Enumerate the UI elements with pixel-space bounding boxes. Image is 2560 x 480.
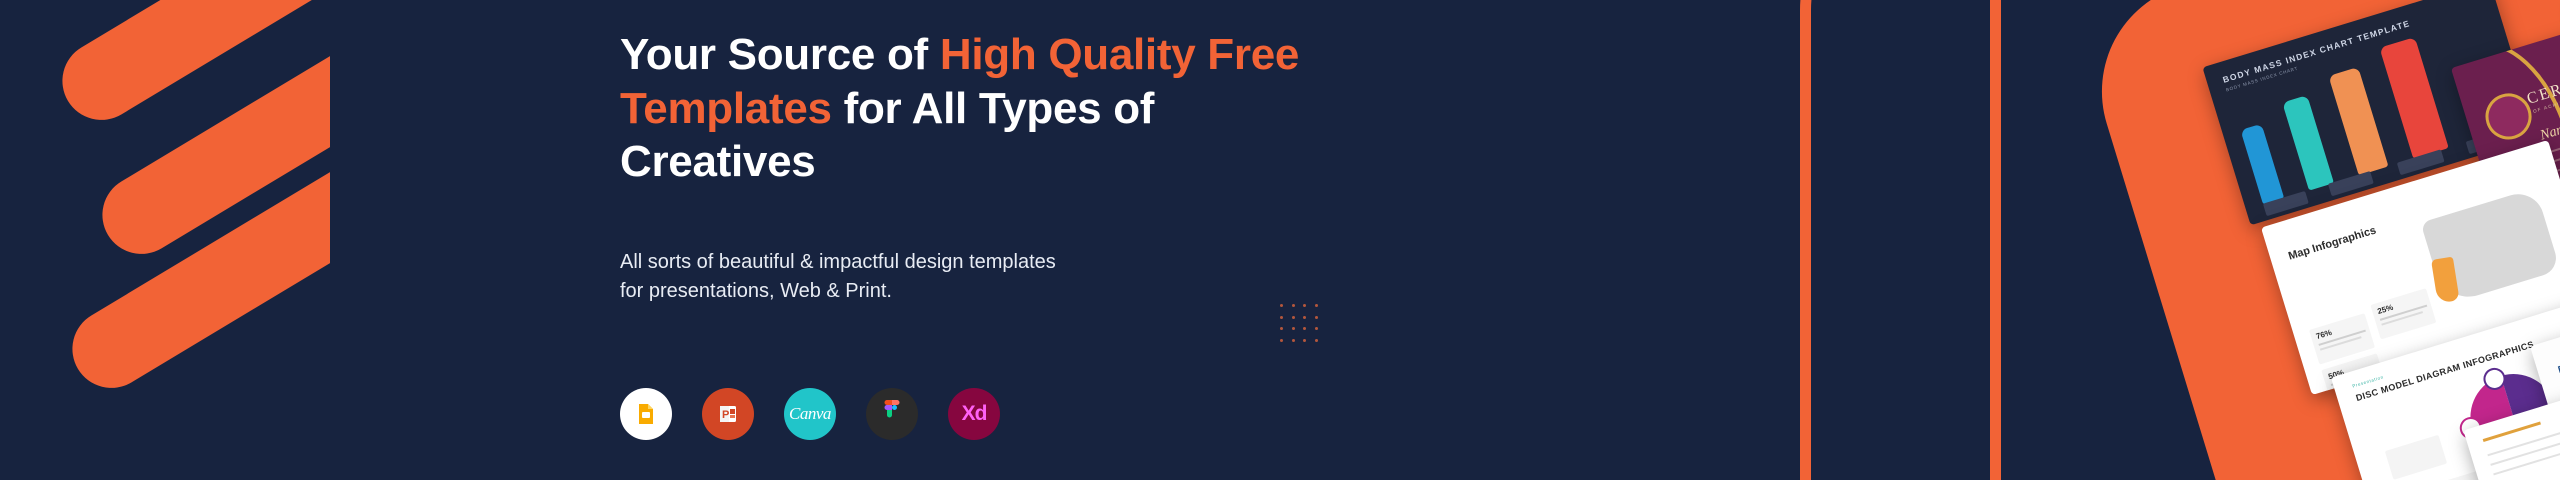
us-map-shape (2421, 188, 2560, 305)
dot-grid-decoration (1276, 300, 1322, 346)
adobe-xd-label: Xd (962, 402, 987, 426)
california-highlight (2431, 257, 2460, 304)
figma-icon[interactable] (866, 388, 918, 440)
powerpoint-icon[interactable]: P (702, 388, 754, 440)
subtitle-text: All sorts of beautiful & impactful desig… (620, 248, 1260, 306)
headline-part1: Your Source of (620, 30, 940, 79)
content-block: Your Source of High Quality Free Templat… (620, 0, 1320, 480)
svg-text:P: P (722, 409, 729, 421)
template-showcase-artwork: BODY MASS INDEX CHART TEMPLATE BODY MASS… (1460, 0, 2560, 480)
google-slides-icon[interactable] (620, 388, 672, 440)
canva-label: Canva (789, 404, 831, 424)
promo-banner: Your Source of High Quality Free Templat… (0, 0, 2560, 480)
page-title: Your Source of High Quality Free Templat… (620, 28, 1320, 189)
canva-icon[interactable]: Canva (784, 388, 836, 440)
adobe-xd-icon[interactable]: Xd (948, 388, 1000, 440)
bmi-figure-2 (2282, 95, 2334, 191)
map-stat-2: 25% (2370, 288, 2436, 339)
app-icon-row: P Canva Xd (620, 388, 1000, 440)
subtitle-line-2: for presentations, Web & Print. (620, 277, 1260, 306)
bmi-figure-3 (2328, 67, 2388, 176)
bmi-figure-1 (2240, 124, 2284, 205)
subtitle-line-1: All sorts of beautiful & impactful desig… (620, 248, 1260, 277)
map-slide-title: Map Infographics (2287, 224, 2378, 262)
bmi-figure-4 (2379, 37, 2448, 159)
brand-logo-icon (0, 0, 330, 480)
